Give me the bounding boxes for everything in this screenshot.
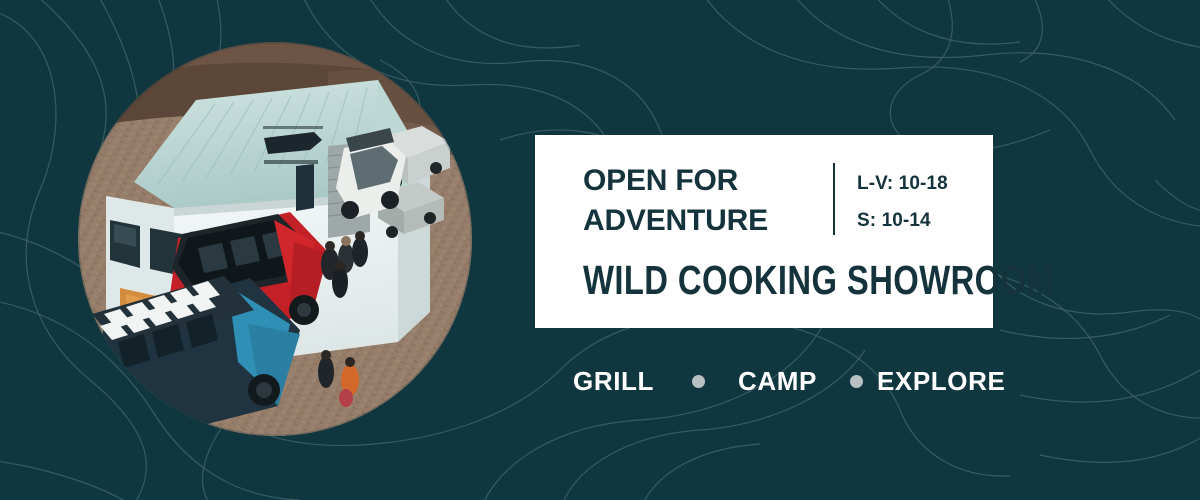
tagline-item-explore: EXPLORE	[877, 366, 1005, 397]
hours-weekday: L-V: 10-18	[857, 165, 948, 202]
tagline-item-camp: CAMP	[738, 366, 817, 397]
promo-banner: OPEN FOR ADVENTURE L-V: 10-18 S: 10-14 W…	[0, 0, 1200, 500]
dot-separator-icon	[850, 375, 863, 388]
aerial-showroom-illustration	[78, 42, 472, 436]
aerial-photo-circle	[78, 42, 472, 436]
hours-saturday: S: 10-14	[857, 202, 948, 239]
opening-hours: L-V: 10-18 S: 10-14	[857, 159, 948, 239]
info-card: OPEN FOR ADVENTURE L-V: 10-18 S: 10-14 W…	[535, 135, 993, 328]
tagline-item-grill: GRILL	[573, 366, 654, 397]
page-title: OPEN FOR ADVENTURE	[583, 159, 833, 240]
card-top-row: OPEN FOR ADVENTURE L-V: 10-18 S: 10-14	[583, 159, 993, 240]
dot-separator-icon	[692, 375, 705, 388]
showroom-title: WILD COOKING SHOWROOM	[583, 257, 911, 304]
tagline-row: GRILL CAMP EXPLORE	[573, 366, 1005, 397]
vertical-divider	[833, 163, 835, 235]
